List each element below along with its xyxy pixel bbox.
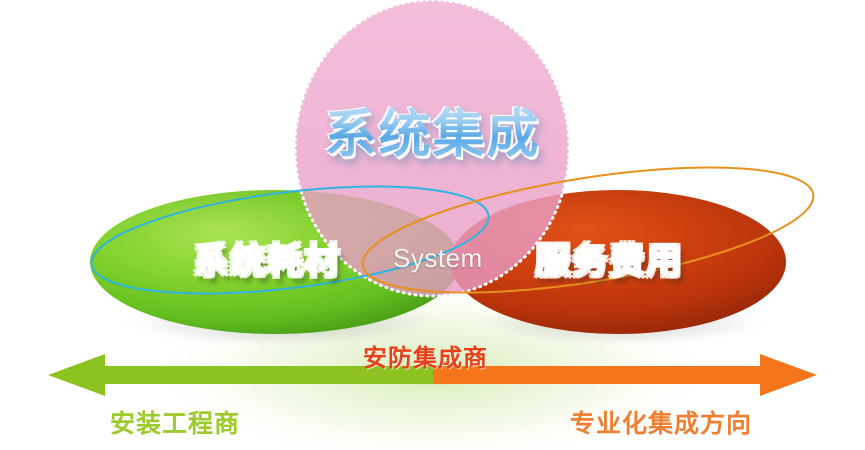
diagram-canvas: 系统集成 系统耗材 服务费用 System 安防集成商 安装工程商 专业化集成方… bbox=[0, 0, 865, 450]
axis-right-end-label: 专业化集成方向 bbox=[570, 404, 752, 440]
left-ellipse-label: 系统耗材 bbox=[193, 232, 341, 284]
axis-left-end-label: 安装工程商 bbox=[110, 404, 240, 440]
venn-diagram-graphic bbox=[0, 0, 865, 450]
top-ellipse-title: 系统集成 bbox=[0, 92, 865, 167]
arrow-right-head bbox=[760, 354, 817, 396]
arrow-left-head bbox=[48, 354, 105, 396]
center-overlap-label: System bbox=[393, 243, 483, 274]
axis-top-label: 安防集成商 bbox=[363, 338, 488, 373]
right-ellipse-label: 服务费用 bbox=[535, 232, 683, 284]
